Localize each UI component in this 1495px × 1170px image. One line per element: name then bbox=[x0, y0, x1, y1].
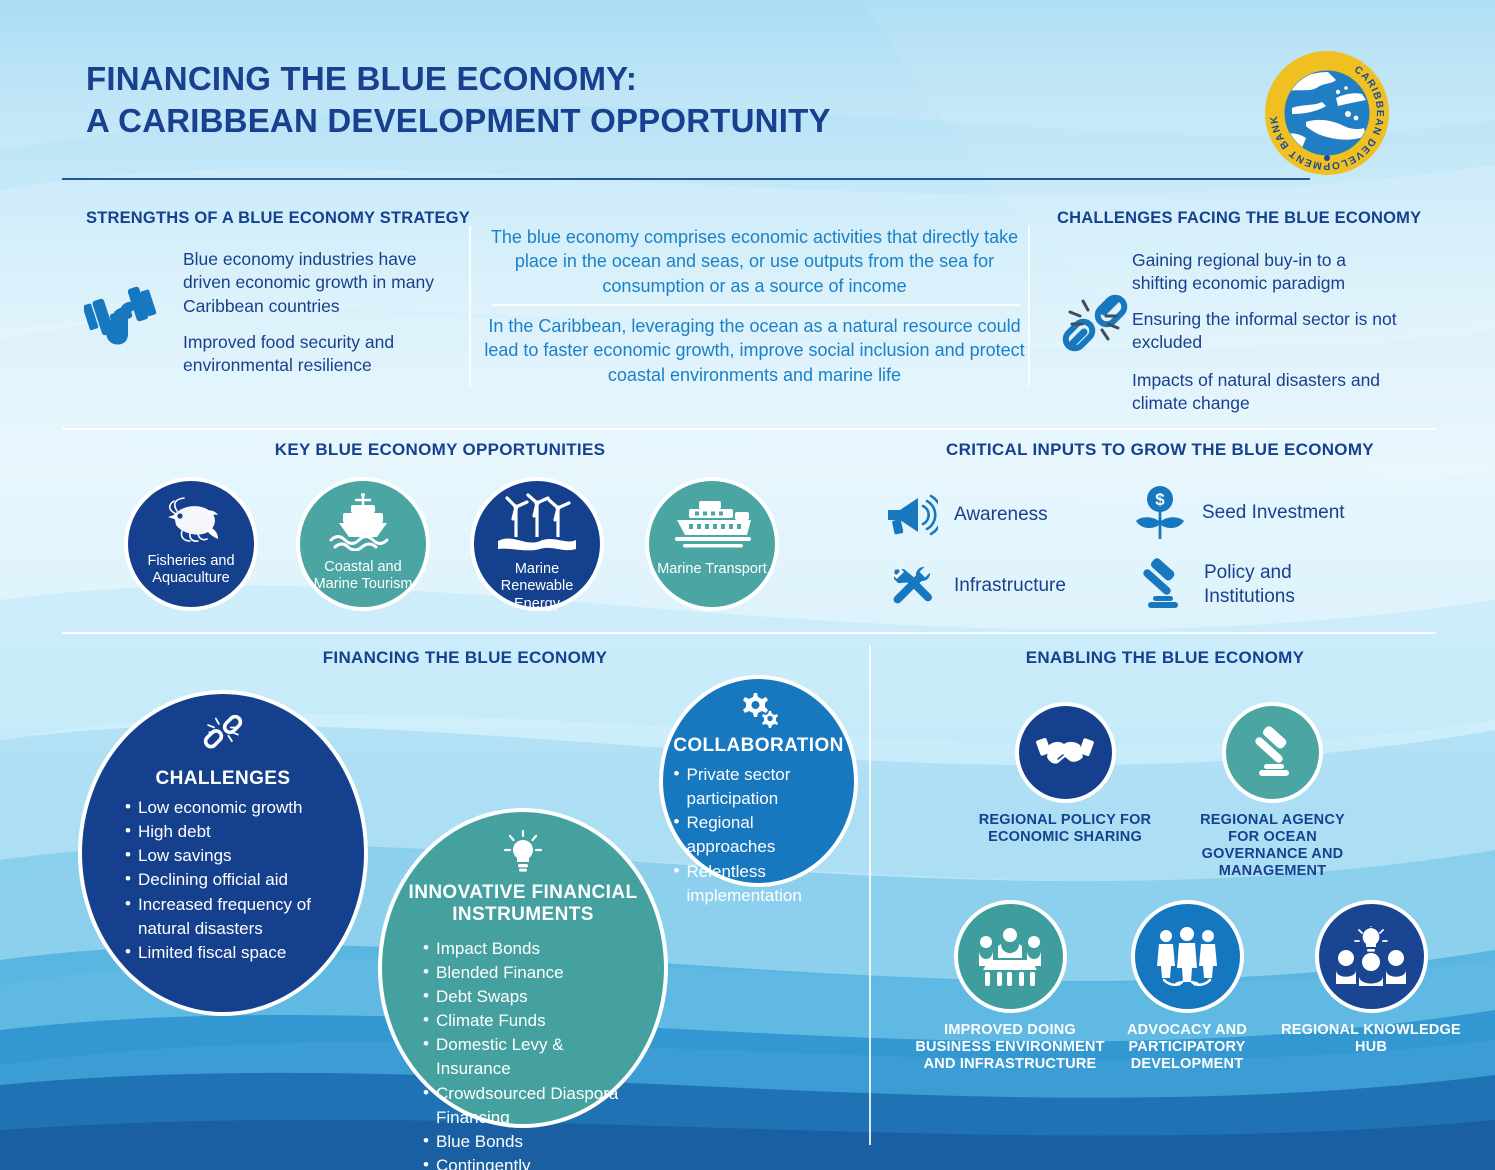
critical-input-seed-investment[interactable]: $ Seed Investment bbox=[1134, 485, 1345, 541]
financing-challenges-item: High debt bbox=[125, 820, 321, 844]
critical-input-label-infrastructure: Infrastructure bbox=[954, 574, 1066, 598]
opportunity-label-fisheries: Fisheries and Aquaculture bbox=[135, 553, 247, 588]
financing-challenges-heading: CHALLENGES bbox=[156, 768, 291, 790]
caribbean-development-bank-logo: CARIBBEAN DEVELOPMENT BANK bbox=[1262, 48, 1392, 178]
page-title-line1: FINANCING THE BLUE ECONOMY: bbox=[86, 58, 966, 100]
shrimp-icon bbox=[160, 497, 222, 543]
infographic-canvas: FINANCING THE BLUE ECONOMY: A CARIBBEAN … bbox=[0, 0, 1495, 1170]
definition-paragraph-1: The blue economy comprises economic acti… bbox=[482, 225, 1027, 298]
definition-divider bbox=[492, 304, 1020, 306]
opportunity-label-tourism: Coastal and Marine Tourism bbox=[304, 559, 422, 594]
financing-instruments-item: Climate Funds bbox=[423, 1009, 623, 1033]
divider-section-2 bbox=[62, 632, 1436, 634]
financing-circle-collaboration[interactable]: COLLABORATION Private sector participati… bbox=[659, 675, 858, 887]
gavel-icon bbox=[1134, 558, 1188, 612]
enabling-label-regional-agency: REGIONAL AGENCY FOR OCEAN GOVERNANCE AND… bbox=[1185, 812, 1360, 880]
opportunity-label-transport: Marine Transport bbox=[657, 561, 767, 578]
enabling-item-knowledge-hub[interactable]: REGIONAL KNOWLEDGE HUB bbox=[1281, 900, 1461, 1056]
enabling-label-knowledge-hub: REGIONAL KNOWLEDGE HUB bbox=[1281, 1022, 1461, 1056]
page-title: FINANCING THE BLUE ECONOMY: A CARIBBEAN … bbox=[86, 58, 966, 142]
megaphone-icon bbox=[884, 492, 938, 538]
financing-instruments-item: Blue Bonds bbox=[423, 1130, 623, 1154]
enabling-item-regional-policy[interactable]: REGIONAL POLICY FOR ECONOMIC SHARING bbox=[975, 702, 1155, 846]
meeting-table-icon bbox=[954, 900, 1067, 1013]
enabling-label-regional-policy: REGIONAL POLICY FOR ECONOMIC SHARING bbox=[975, 812, 1155, 846]
ferry-icon bbox=[669, 499, 755, 549]
challenges-top-item-2: Ensuring the informal sector is not excl… bbox=[1132, 308, 1402, 355]
people-group-icon bbox=[1131, 900, 1244, 1013]
opportunity-circle-transport[interactable]: Marine Transport bbox=[645, 477, 779, 611]
financing-instruments-item: Contingently Recoverable Grants bbox=[423, 1154, 623, 1170]
lightbulb-icon bbox=[504, 830, 542, 872]
opportunity-circle-tourism[interactable]: Coastal and Marine Tourism bbox=[296, 477, 430, 611]
enabling-title: ENABLING THE BLUE ECONOMY bbox=[910, 648, 1420, 668]
critical-input-awareness[interactable]: Awareness bbox=[884, 492, 1048, 538]
enabling-item-doing-business[interactable]: IMPROVED DOING BUSINESS ENVIRONMENT AND … bbox=[912, 900, 1108, 1073]
cruise-ship-icon bbox=[325, 493, 401, 551]
tools-icon bbox=[884, 559, 938, 613]
handshake-icon bbox=[1015, 702, 1116, 803]
challenges-top-item-1: Gaining regional buy-in to a shifting ec… bbox=[1132, 249, 1402, 296]
financing-instruments-item: Blended Finance bbox=[423, 961, 623, 985]
broken-chain-icon bbox=[200, 712, 246, 756]
financing-instruments-item: Impact Bonds bbox=[423, 937, 623, 961]
financing-instruments-heading-2: INSTRUMENTS bbox=[409, 904, 638, 926]
header-divider bbox=[62, 178, 1310, 180]
critical-inputs-title: CRITICAL INPUTS TO GROW THE BLUE ECONOMY bbox=[880, 440, 1440, 460]
page-title-line2: A CARIBBEAN DEVELOPMENT OPPORTUNITY bbox=[86, 100, 966, 142]
financing-collaboration-heading: COLLABORATION bbox=[673, 735, 844, 757]
financing-challenges-item: Low savings bbox=[125, 844, 321, 868]
opportunity-label-renewable: Marine Renewable Energy bbox=[482, 561, 592, 613]
financing-circle-challenges[interactable]: CHALLENGES Low economic growth High debt… bbox=[78, 690, 368, 1016]
financing-collaboration-item: Regional approaches bbox=[674, 811, 844, 859]
broken-chain-icon bbox=[1058, 290, 1132, 364]
people-idea-icon bbox=[1315, 900, 1428, 1013]
critical-input-policy[interactable]: Policy and Institutions bbox=[1134, 558, 1354, 612]
opportunities-title: KEY BLUE ECONOMY OPPORTUNITIES bbox=[130, 440, 750, 460]
critical-input-infrastructure[interactable]: Infrastructure bbox=[884, 559, 1066, 613]
divider-vertical-right bbox=[1028, 226, 1030, 386]
financing-challenges-item: Increased frequency of natural disasters bbox=[125, 893, 321, 941]
critical-input-label-awareness: Awareness bbox=[954, 503, 1048, 527]
financing-collaboration-item: Relentless implementation bbox=[674, 860, 844, 908]
financing-collaboration-item: Private sector participation bbox=[674, 763, 844, 811]
critical-input-label-policy: Policy and Institutions bbox=[1204, 561, 1354, 609]
challenges-top-title: CHALLENGES FACING THE BLUE ECONOMY bbox=[1057, 209, 1421, 228]
financing-instruments-item: Crowdsourced Diaspora Financing bbox=[423, 1082, 623, 1130]
financing-challenges-item: Declining official aid bbox=[125, 868, 321, 892]
enabling-item-regional-agency[interactable]: REGIONAL AGENCY FOR OCEAN GOVERNANCE AND… bbox=[1185, 702, 1360, 880]
enabling-item-advocacy[interactable]: ADVOCACY AND PARTICIPATORY DEVELOPMENT bbox=[1097, 900, 1277, 1073]
wind-turbines-icon bbox=[496, 493, 578, 553]
strengths-item-1: Blue economy industries have driven econ… bbox=[183, 248, 458, 318]
strengths-item-2: Improved food security and environmental… bbox=[183, 331, 458, 378]
definition-paragraph-2: In the Caribbean, leveraging the ocean a… bbox=[482, 314, 1027, 387]
gavel-icon bbox=[1222, 702, 1323, 803]
svg-text:$: $ bbox=[1155, 490, 1165, 509]
financing-challenges-item: Limited fiscal space bbox=[125, 941, 321, 965]
gears-icon bbox=[738, 691, 780, 729]
financing-title: FINANCING THE BLUE ECONOMY bbox=[150, 648, 780, 668]
challenges-top-item-3: Impacts of natural disasters and climate… bbox=[1132, 369, 1402, 416]
divider-section-1 bbox=[62, 428, 1436, 430]
divider-vertical-left bbox=[469, 226, 471, 386]
strong-arm-dumbbell-icon bbox=[84, 282, 168, 354]
critical-input-label-seed-investment: Seed Investment bbox=[1202, 501, 1345, 525]
financing-challenges-item: Low economic growth bbox=[125, 796, 321, 820]
money-plant-icon: $ bbox=[1134, 485, 1186, 541]
financing-instruments-item: Debt Swaps bbox=[423, 985, 623, 1009]
opportunity-circle-renewable[interactable]: Marine Renewable Energy bbox=[470, 477, 604, 611]
enabling-label-doing-business: IMPROVED DOING BUSINESS ENVIRONMENT AND … bbox=[912, 1022, 1108, 1073]
financing-instruments-heading-1: INNOVATIVE FINANCIAL bbox=[409, 882, 638, 904]
opportunity-circle-fisheries[interactable]: Fisheries and Aquaculture bbox=[124, 477, 258, 611]
financing-instruments-item: Domestic Levy & Insurance bbox=[423, 1033, 623, 1081]
divider-vertical-bottom bbox=[869, 645, 871, 1145]
enabling-label-advocacy: ADVOCACY AND PARTICIPATORY DEVELOPMENT bbox=[1097, 1022, 1277, 1073]
strengths-title: STRENGTHS OF A BLUE ECONOMY STRATEGY bbox=[86, 209, 470, 228]
financing-circle-instruments[interactable]: INNOVATIVE FINANCIAL INSTRUMENTS Impact … bbox=[378, 808, 668, 1128]
